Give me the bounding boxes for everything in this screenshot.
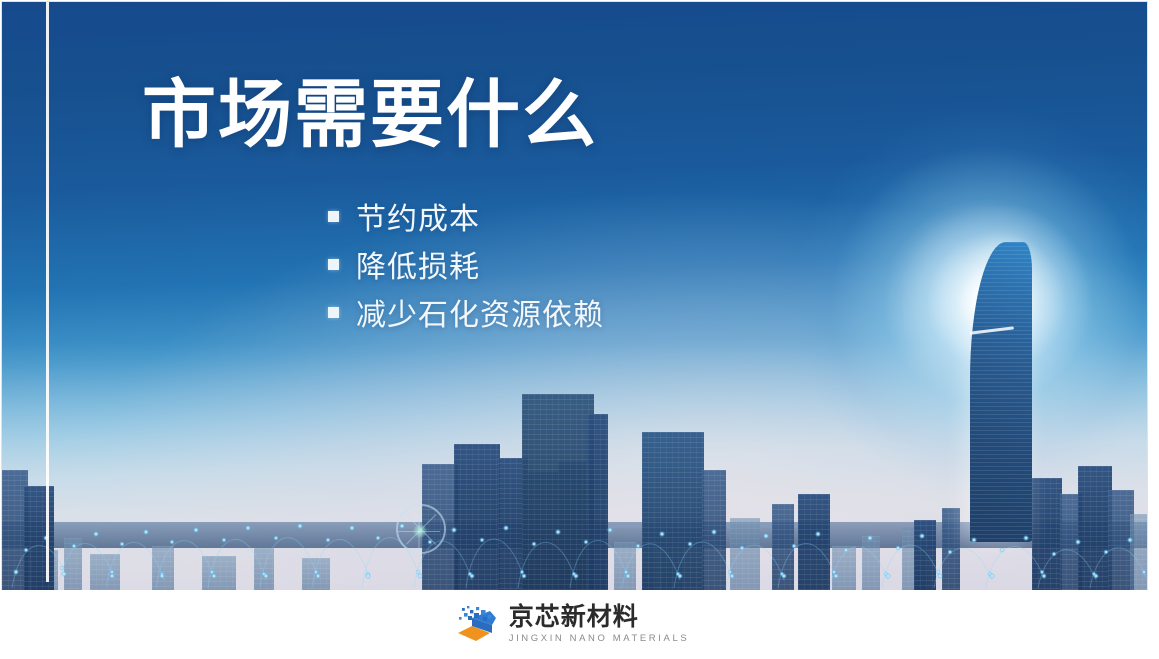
jingxin-pixel-logo-icon xyxy=(456,605,500,645)
list-item: 降低损耗 xyxy=(328,240,604,288)
list-item: 节约成本 xyxy=(328,192,604,240)
city-skyline xyxy=(2,360,1147,590)
square-bullet-icon xyxy=(328,211,339,222)
logo-name-en: JINGXIN NANO MATERIALS xyxy=(509,634,690,644)
list-item-label: 节约成本 xyxy=(356,194,480,238)
square-bullet-icon xyxy=(328,307,339,318)
slide-footer: 京芯新材料 JINGXIN NANO MATERIALS xyxy=(0,590,1149,659)
logo-text-block: 京芯新材料 JINGXIN NANO MATERIALS xyxy=(509,605,690,644)
list-item: 减少石化资源依赖 xyxy=(328,288,604,336)
list-item-label: 降低损耗 xyxy=(356,242,480,286)
ferris-wheel-hub-icon xyxy=(413,524,427,538)
slide-root: 市场需要什么 节约成本 降低损耗 减少石化资源依赖 xyxy=(0,0,1159,659)
logo-name-cn: 京芯新材料 xyxy=(509,605,690,630)
square-bullet-icon xyxy=(328,259,339,270)
list-item-label: 减少石化资源依赖 xyxy=(356,290,604,334)
slide-canvas: 市场需要什么 节约成本 降低损耗 减少石化资源依赖 xyxy=(2,2,1147,590)
page-title: 市场需要什么 xyxy=(142,78,598,152)
company-logo: 京芯新材料 JINGXIN NANO MATERIALS xyxy=(456,605,690,645)
left-accent-rule xyxy=(46,2,49,582)
bullet-list: 节约成本 降低损耗 减少石化资源依赖 xyxy=(328,192,604,336)
sail-tower-icon xyxy=(970,242,1032,542)
